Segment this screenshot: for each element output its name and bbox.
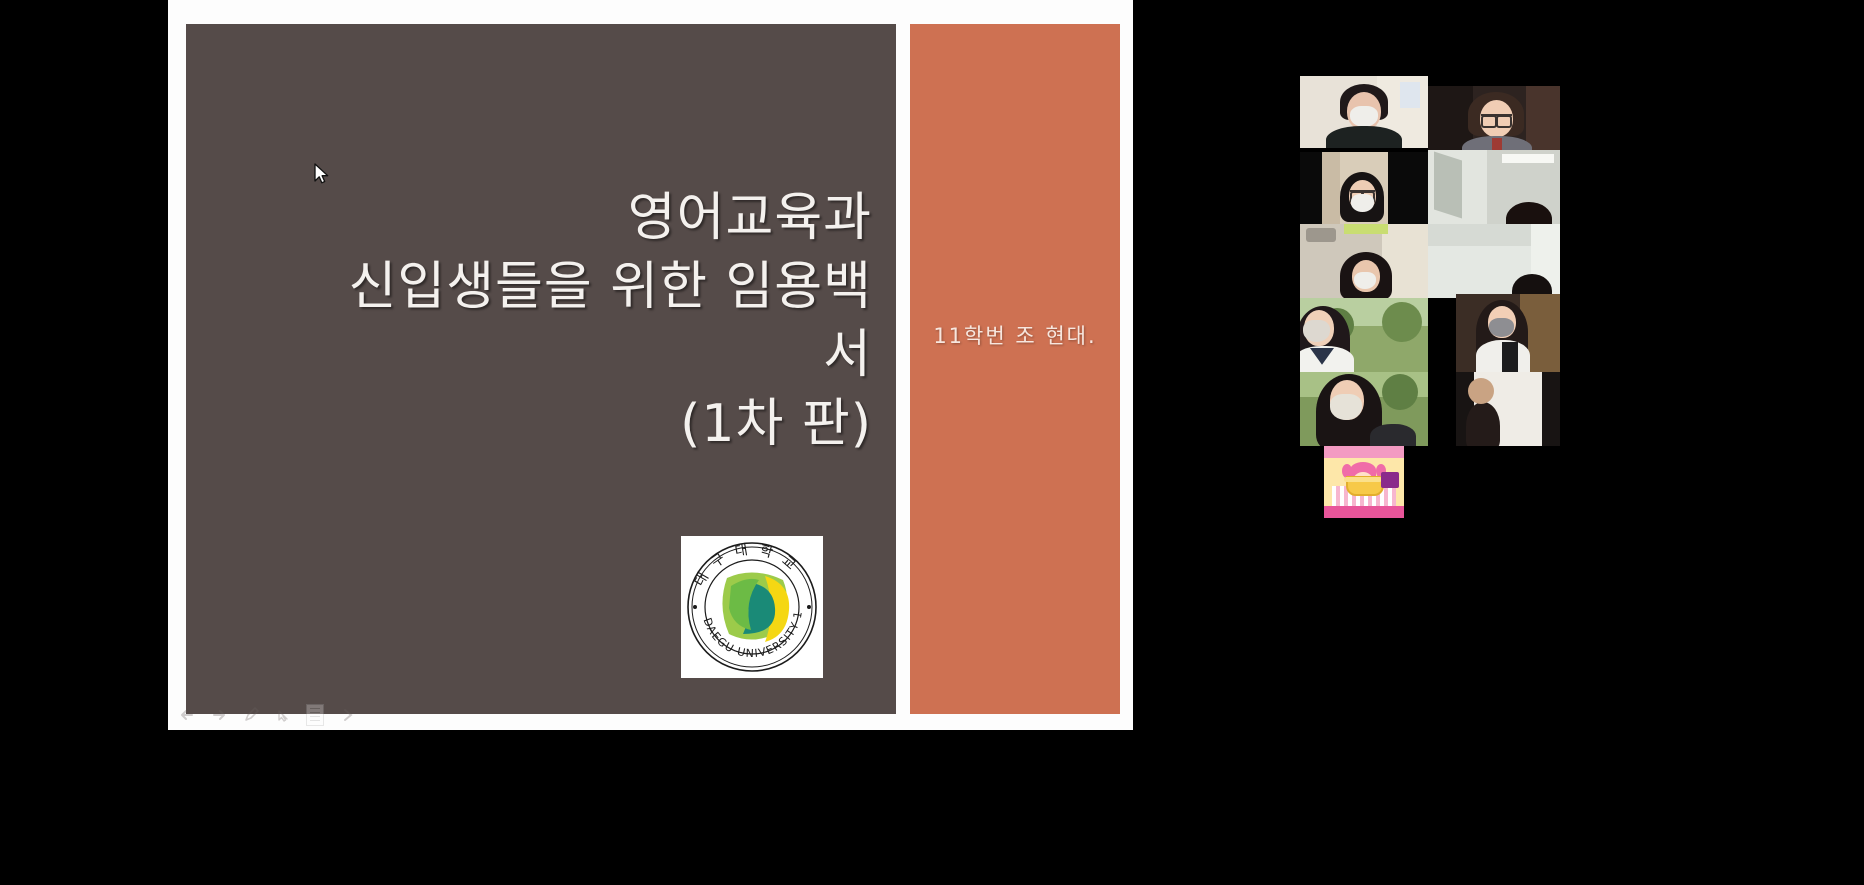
participant-tile[interactable] <box>1456 294 1560 372</box>
participant-tile[interactable] <box>1428 86 1560 158</box>
presentation-window[interactable]: 영어교육과 신입생들을 위한 임용백 서 (1차 판) 대 구 대 학 교 <box>168 0 1133 730</box>
pointer-tool-icon[interactable] <box>274 706 292 724</box>
participant-tile[interactable] <box>1428 150 1560 224</box>
slide-accent-panel: 11학번 조 현대. <box>910 24 1120 714</box>
previous-slide-arrow-icon[interactable] <box>178 706 196 724</box>
participant-tile[interactable] <box>1300 372 1428 446</box>
participant-grid[interactable] <box>1300 76 1560 516</box>
next-slide-arrow-icon[interactable] <box>210 706 228 724</box>
pen-annotation-icon[interactable] <box>242 706 260 724</box>
participant-tile[interactable] <box>1300 224 1428 298</box>
slide-notes-icon[interactable] <box>306 704 324 726</box>
mouse-cursor <box>314 163 330 187</box>
slide-title: 영어교육과 신입생들을 위한 임용백 서 (1차 판) <box>232 184 872 459</box>
participant-tile-cartoon-avatar[interactable] <box>1324 446 1404 518</box>
daegu-university-logo: 대 구 대 학 교 DAEGU UNIVERSITY 1956 <box>681 536 823 678</box>
advance-arrow-icon[interactable] <box>338 706 356 724</box>
slide-presenter-name: 11학번 조 현대. <box>910 320 1120 350</box>
slideshow-toolbar[interactable] <box>178 702 358 728</box>
participant-tile[interactable] <box>1456 372 1560 446</box>
participant-tile[interactable] <box>1300 298 1428 372</box>
participant-tile[interactable] <box>1300 76 1428 148</box>
slide-canvas[interactable]: 영어교육과 신입생들을 위한 임용백 서 (1차 판) 대 구 대 학 교 <box>186 24 896 714</box>
participant-tile[interactable] <box>1300 152 1428 224</box>
participant-tile[interactable] <box>1428 224 1560 298</box>
